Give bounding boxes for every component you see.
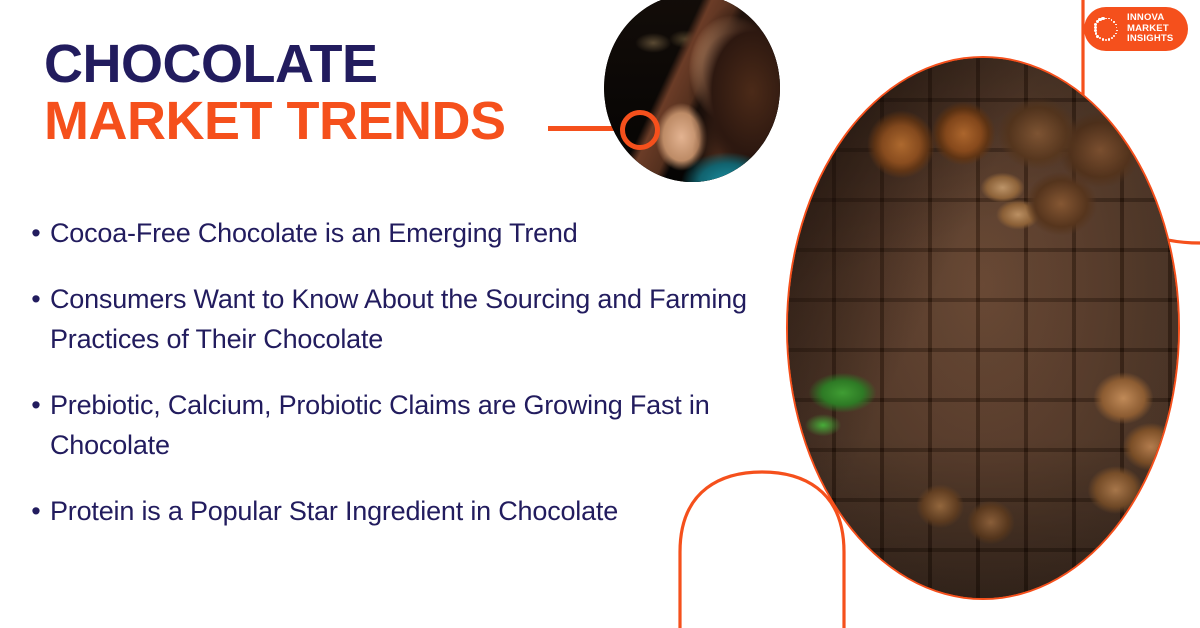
orange-ring-highlight-icon [620,110,660,150]
portrait-photo-woman-eating-chocolate [604,0,780,182]
portrait-photo-image [604,0,780,182]
logo-text: INNOVA MARKET INSIGHTS [1127,13,1173,45]
bullet-marker-icon: • [22,279,50,319]
list-item-text: Cocoa-Free Chocolate is an Emerging Tren… [50,213,578,253]
list-item: • Cocoa-Free Chocolate is an Emerging Tr… [22,213,762,253]
product-photo-chocolate-assortment [786,56,1180,600]
list-item-text: Consumers Want to Know About the Sourcin… [50,279,762,359]
page-title: CHOCOLATE MARKET TRENDS [44,36,584,150]
title-line-market-trends: MARKET TRENDS [44,93,584,150]
innova-market-insights-logo[interactable]: INNOVA MARKET INSIGHTS [1084,7,1188,51]
trend-list: • Cocoa-Free Chocolate is an Emerging Tr… [22,213,762,557]
list-item-text: Prebiotic, Calcium, Probiotic Claims are… [50,385,762,465]
innova-dots-circle-icon [1090,13,1122,45]
list-item: • Consumers Want to Know About the Sourc… [22,279,762,359]
bullet-marker-icon: • [22,385,50,425]
logo-text-line-3: INSIGHTS [1127,34,1173,45]
list-item: • Prebiotic, Calcium, Probiotic Claims a… [22,385,762,465]
product-photo-shading [788,58,1178,598]
title-line-chocolate: CHOCOLATE [44,36,584,93]
list-item: • Protein is a Popular Star Ingredient i… [22,491,762,531]
bullet-marker-icon: • [22,213,50,253]
list-item-text: Protein is a Popular Star Ingredient in … [50,491,618,531]
bullet-marker-icon: • [22,491,50,531]
infographic-canvas: CHOCOLATE MARKET TRENDS • Cocoa-Free Cho… [0,0,1200,628]
